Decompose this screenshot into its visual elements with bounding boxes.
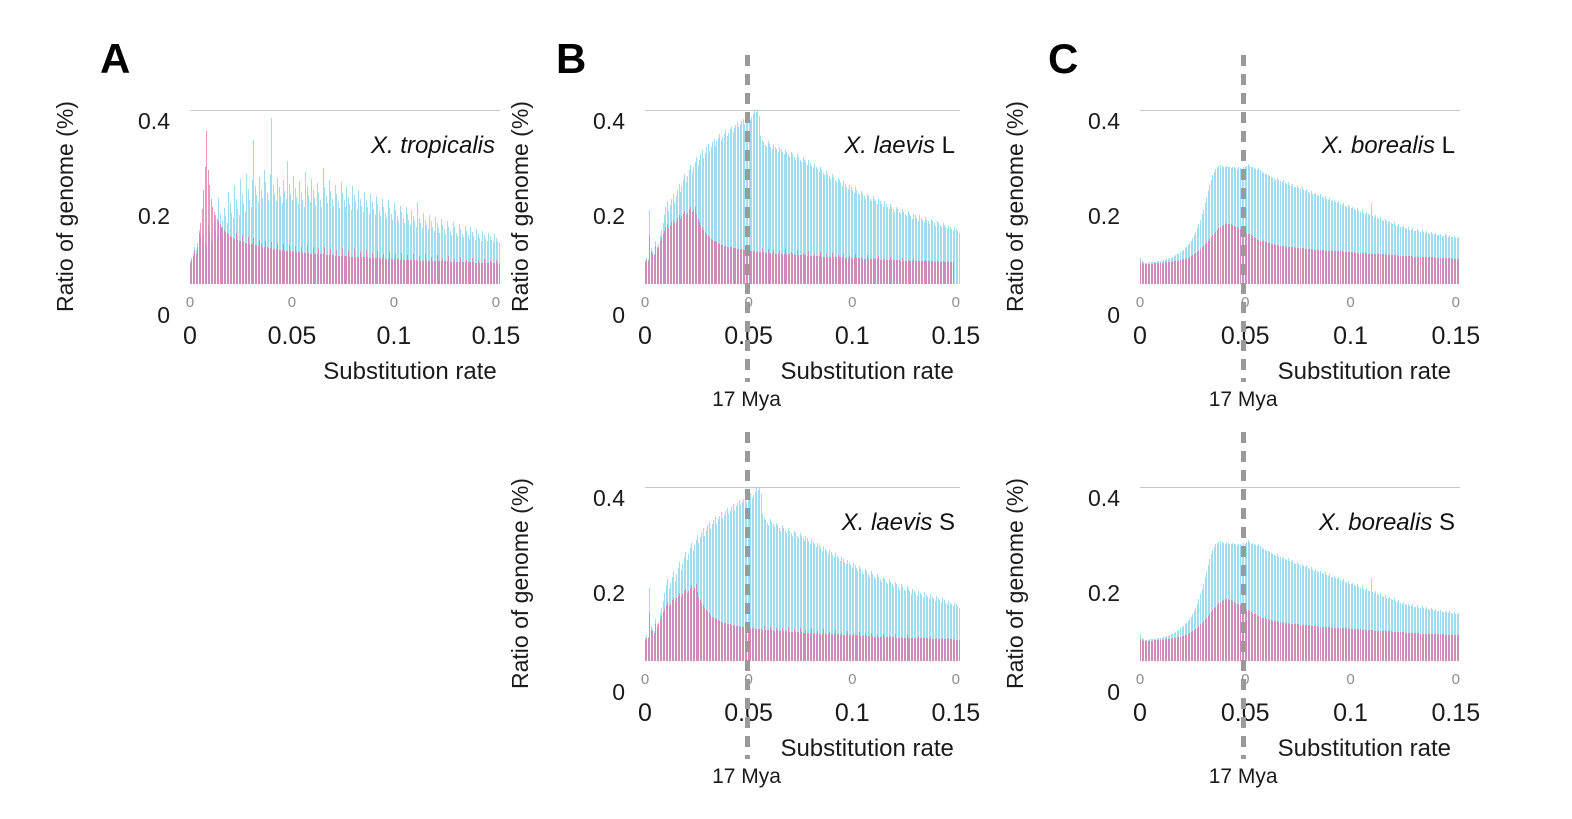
minor-tick-0: 0 <box>1110 671 1170 688</box>
x-tick-0: 0 <box>1095 322 1185 351</box>
species-binomial: X. tropicalis <box>371 132 495 159</box>
y-axis-title: Ratio of genome (%) <box>52 101 79 312</box>
y-tick-0: 0.4 <box>533 485 625 512</box>
minor-tick-2: 0 <box>1321 294 1381 311</box>
mya-dashed-line <box>1241 55 1246 382</box>
mya-dashed-line <box>1241 432 1246 759</box>
x-tick-3: 0.15 <box>1411 699 1501 728</box>
y-tick-1: 0.2 <box>533 203 625 230</box>
species-binomial: X. borealis <box>1322 132 1435 159</box>
minor-tick-3: 0 <box>1426 294 1486 311</box>
subgenome-label: S <box>932 509 955 536</box>
minor-tick-2: 0 <box>822 294 882 311</box>
panel-letter-a: A <box>100 38 130 80</box>
x-tick-3: 0.15 <box>451 322 541 351</box>
minor-tick-3: 0 <box>1426 671 1486 688</box>
y-tick-1: 0.2 <box>533 580 625 607</box>
species-binomial: X. laevis <box>844 132 935 159</box>
bar <box>959 640 960 661</box>
subgenome-label: S <box>1432 509 1455 536</box>
species-label: X. tropicalis <box>371 132 495 160</box>
figure-canvas: ARatio of genome (%)0.40.20000000.050.10… <box>0 0 1572 819</box>
x-tick-1: 0.05 <box>247 322 337 351</box>
minor-tick-2: 0 <box>364 294 424 311</box>
x-tick-0: 0 <box>1095 699 1185 728</box>
x-tick-0: 0 <box>600 322 690 351</box>
panel-letter-c: C <box>1048 38 1078 80</box>
species-label: X. laevis S <box>842 509 955 537</box>
subgenome-label: L <box>935 132 955 159</box>
mya-dashed-line <box>745 432 750 759</box>
y-axis-title: Ratio of genome (%) <box>1002 101 1029 312</box>
minor-tick-0: 0 <box>1110 294 1170 311</box>
y-tick-1: 0.2 <box>78 203 170 230</box>
species-binomial: X. borealis <box>1319 509 1432 536</box>
x-tick-0: 0 <box>600 699 690 728</box>
y-tick-0: 0.4 <box>78 108 170 135</box>
minor-tick-0: 0 <box>160 294 220 311</box>
minor-tick-2: 0 <box>822 671 882 688</box>
x-tick-3: 0.15 <box>911 699 1001 728</box>
y-axis-title: Ratio of genome (%) <box>507 478 534 689</box>
mya-label: 17 Mya <box>1163 388 1323 412</box>
y-tick-0: 0.4 <box>1028 485 1120 512</box>
y-tick-1: 0.2 <box>1028 203 1120 230</box>
x-tick-0: 0 <box>145 322 235 351</box>
bar <box>953 262 954 284</box>
x-tick-2: 0.1 <box>349 322 439 351</box>
x-tick-3: 0.15 <box>911 322 1001 351</box>
x-tick-2: 0.1 <box>1306 699 1396 728</box>
species-label: X. borealis L <box>1322 132 1455 160</box>
y-axis-title: Ratio of genome (%) <box>1002 478 1029 689</box>
mya-dashed-line <box>745 55 750 382</box>
x-tick-2: 0.1 <box>807 322 897 351</box>
minor-tick-3: 0 <box>926 294 986 311</box>
species-label: X. laevis L <box>844 132 955 160</box>
minor-tick-1: 0 <box>262 294 322 311</box>
mya-label: 17 Mya <box>667 765 827 789</box>
y-tick-0: 0.4 <box>1028 108 1120 135</box>
x-tick-3: 0.15 <box>1411 322 1501 351</box>
subgenome-label: L <box>1435 132 1455 159</box>
x-axis-title: Substitution rate <box>780 735 953 763</box>
y-tick-1: 0.2 <box>1028 580 1120 607</box>
x-tick-2: 0.1 <box>807 699 897 728</box>
species-label: X. borealis S <box>1319 509 1455 537</box>
x-axis-title: Substitution rate <box>780 358 953 386</box>
panel-letter-b: B <box>556 38 586 80</box>
x-tick-2: 0.1 <box>1306 322 1396 351</box>
minor-tick-0: 0 <box>615 671 675 688</box>
mya-label: 17 Mya <box>1163 765 1323 789</box>
x-axis-title: Substitution rate <box>323 358 496 386</box>
x-axis-title: Substitution rate <box>1278 735 1451 763</box>
minor-tick-3: 0 <box>926 671 986 688</box>
y-tick-0: 0.4 <box>533 108 625 135</box>
x-axis-title: Substitution rate <box>1278 358 1451 386</box>
species-binomial: X. laevis <box>842 509 933 536</box>
y-axis-title: Ratio of genome (%) <box>507 101 534 312</box>
minor-tick-2: 0 <box>1321 671 1381 688</box>
minor-tick-0: 0 <box>615 294 675 311</box>
mya-label: 17 Mya <box>667 388 827 412</box>
bar <box>959 233 960 284</box>
